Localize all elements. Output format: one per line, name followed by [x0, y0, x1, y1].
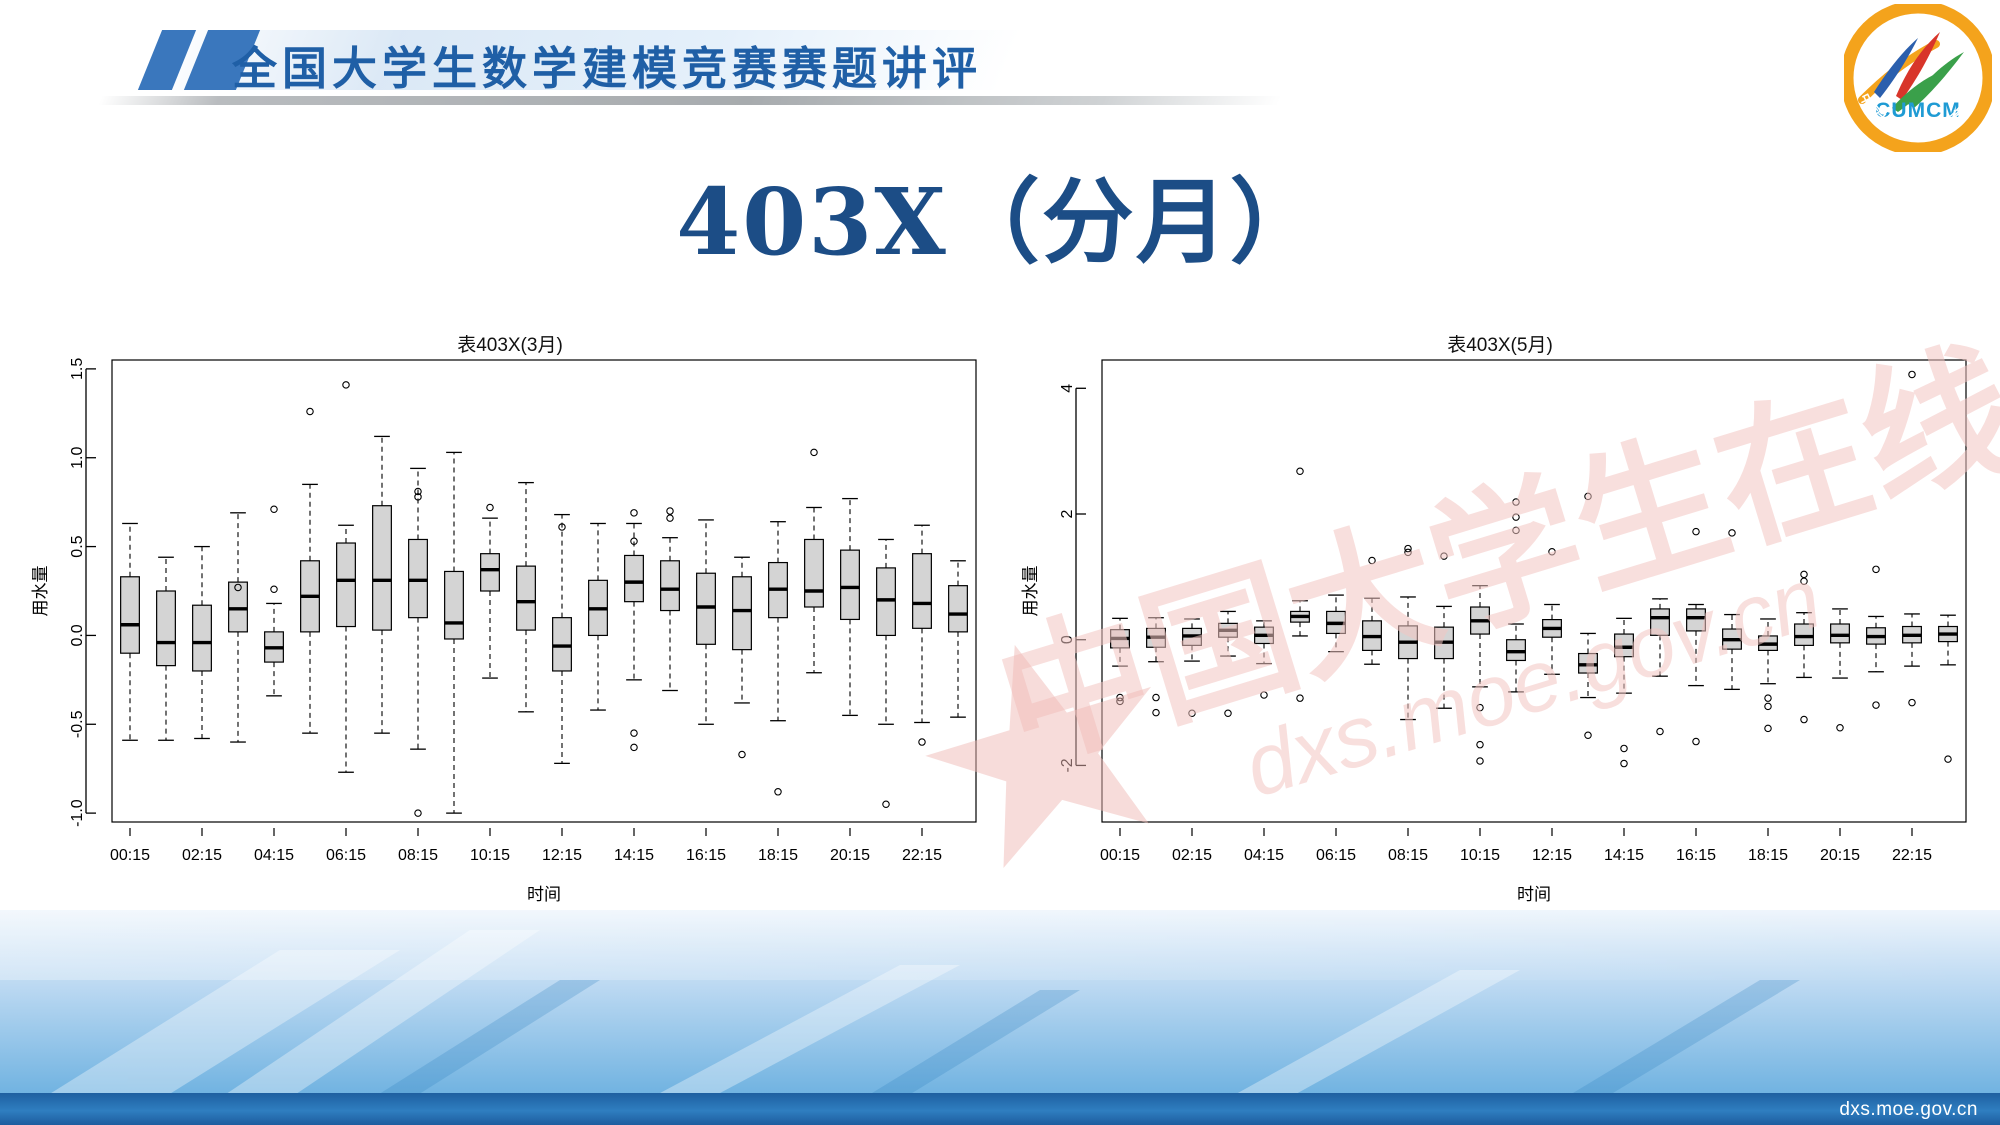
boxplot-box	[1615, 618, 1634, 766]
boxplot-box	[121, 523, 140, 740]
y-tick-label: 0.0	[69, 624, 86, 646]
plot-may: -2024用水量00:1502:1504:1506:1508:1510:1512…	[1010, 352, 1990, 940]
outlier-point	[1441, 553, 1447, 559]
outlier-point	[1585, 732, 1591, 738]
outlier-point	[1945, 756, 1951, 762]
outlier-point	[1909, 371, 1915, 377]
x-tick-label: 02:15	[182, 847, 222, 864]
x-tick-label: 02:15	[1172, 847, 1212, 864]
y-tick-label: 1.0	[69, 447, 86, 469]
outlier-point	[775, 789, 781, 795]
footer-bar	[0, 1093, 2000, 1125]
x-axis-title: 时间	[1517, 885, 1551, 904]
boxplot-box	[697, 520, 716, 724]
boxplot-box	[625, 510, 644, 751]
outlier-point	[811, 449, 817, 455]
cumcm-logo-icon: CUMCM 中国大学生数学建模竞赛	[1844, 4, 1992, 152]
charts-container: 表403X(3月) -1.0-0.50.00.51.01.5用水量00:1502…	[0, 300, 2000, 940]
outlier-point	[1513, 527, 1519, 533]
boxplot-box	[1255, 621, 1274, 698]
outlier-point	[1549, 549, 1555, 555]
plot-march: -1.0-0.50.00.51.01.5用水量00:1502:1504:1506…	[20, 352, 1000, 940]
outlier-point	[1765, 695, 1771, 701]
x-tick-label: 12:15	[542, 847, 582, 864]
y-tick-label: -1.0	[69, 799, 86, 827]
y-axis-title: 用水量	[31, 566, 50, 617]
slide-bottom-decor: dxs.moe.gov.cn	[0, 910, 2000, 1125]
y-axis-title: 用水量	[1021, 566, 1040, 617]
outlier-point	[1225, 710, 1231, 716]
outlier-point	[1765, 703, 1771, 709]
outlier-point	[739, 751, 745, 757]
outlier-point	[883, 801, 889, 807]
outlier-point	[271, 586, 277, 592]
boxplot-box	[1579, 493, 1598, 738]
outlier-point	[631, 744, 637, 750]
boxplot-box	[337, 382, 356, 773]
outlier-point	[1909, 699, 1915, 705]
outlier-point	[1405, 545, 1411, 551]
box-rect	[481, 554, 500, 591]
boxplot-box	[1831, 609, 1850, 731]
boxplot-box	[733, 557, 752, 757]
box-rect	[625, 555, 644, 601]
box-rect	[841, 550, 860, 619]
y-tick-label: 0	[1059, 635, 1076, 644]
y-tick-label: -0.5	[69, 710, 86, 738]
boxplot-box	[1183, 619, 1202, 716]
y-tick-label: 4	[1059, 384, 1076, 393]
header-underline	[98, 96, 1282, 105]
boxplot-box	[373, 436, 392, 733]
box-rect	[733, 577, 752, 650]
outlier-point	[1621, 745, 1627, 751]
x-tick-label: 00:15	[110, 847, 150, 864]
plot-frame	[1102, 360, 1966, 822]
outlier-point	[271, 506, 277, 512]
outlier-point	[1873, 566, 1879, 572]
boxplot-box	[661, 508, 680, 691]
box-rect	[157, 591, 176, 666]
boxplot-box	[1219, 611, 1238, 716]
outlier-point	[1153, 709, 1159, 715]
x-tick-label: 14:15	[614, 847, 654, 864]
outlier-point	[631, 510, 637, 516]
boxplot-box	[229, 513, 248, 742]
slide-header: 全国大学生数学建模竞赛赛题讲评	[0, 0, 2000, 120]
box-rect	[193, 605, 212, 671]
slide-title: 403X（分月）	[0, 148, 2000, 281]
box-rect	[1687, 609, 1706, 631]
outlier-point	[1729, 530, 1735, 536]
boxplot-box	[805, 449, 824, 673]
x-tick-label: 20:15	[1820, 847, 1860, 864]
x-tick-label: 16:15	[1676, 847, 1716, 864]
x-tick-label: 08:15	[1388, 847, 1428, 864]
box-rect	[229, 582, 248, 632]
boxplot-box	[409, 468, 428, 816]
outlier-point	[1837, 725, 1843, 731]
x-tick-label: 16:15	[686, 847, 726, 864]
outlier-point	[1693, 528, 1699, 534]
boxplot-svg-may: -2024用水量00:1502:1504:1506:1508:1510:1512…	[1010, 352, 1990, 940]
outlier-point	[1621, 760, 1627, 766]
outlier-point	[1477, 758, 1483, 764]
x-tick-label: 18:15	[758, 847, 798, 864]
x-tick-label: 00:15	[1100, 847, 1140, 864]
outlier-point	[1477, 741, 1483, 747]
outlier-point	[1693, 738, 1699, 744]
boxplot-box	[1111, 618, 1130, 704]
box-rect	[877, 568, 896, 636]
boxplot-box	[949, 561, 968, 717]
boxplot-box	[769, 522, 788, 795]
outlier-point	[1297, 695, 1303, 701]
outlier-point	[1513, 499, 1519, 505]
outlier-point	[667, 515, 673, 521]
box-rect	[409, 539, 428, 617]
outlier-point	[1117, 698, 1123, 704]
x-tick-label: 14:15	[1604, 847, 1644, 864]
x-tick-label: 12:15	[1532, 847, 1572, 864]
y-tick-label: 1.5	[69, 358, 86, 380]
boxplot-box	[1399, 545, 1418, 719]
outlier-point	[1585, 493, 1591, 499]
boxplot-box	[1291, 468, 1310, 701]
outlier-point	[307, 408, 313, 414]
boxplot-box	[1939, 615, 1958, 762]
outlier-point	[1369, 557, 1375, 563]
x-tick-label: 22:15	[902, 847, 942, 864]
outlier-point	[343, 382, 349, 388]
box-rect	[1831, 624, 1850, 643]
boxplot-box	[1543, 549, 1562, 675]
footer-url: dxs.moe.gov.cn	[1839, 1099, 1978, 1121]
boxplot-box	[301, 408, 320, 733]
boxplot-box	[913, 525, 932, 745]
outlier-point	[1801, 716, 1807, 722]
outlier-point	[1513, 514, 1519, 520]
outlier-point	[631, 730, 637, 736]
x-tick-label: 10:15	[1460, 847, 1500, 864]
outlier-point	[1765, 725, 1771, 731]
x-tick-label: 06:15	[326, 847, 366, 864]
boxplot-box	[1903, 371, 1922, 706]
x-tick-label: 04:15	[254, 847, 294, 864]
outlier-point	[1297, 468, 1303, 474]
boxplot-box	[265, 506, 284, 696]
boxplot-box	[1651, 599, 1670, 735]
outlier-point	[667, 508, 673, 514]
boxplot-box	[553, 515, 572, 764]
y-tick-label: 2	[1059, 509, 1076, 518]
box-rect	[337, 543, 356, 627]
boxplot-box	[517, 483, 536, 712]
box-rect	[661, 561, 680, 611]
boxplot-box	[1723, 530, 1742, 690]
x-tick-label: 04:15	[1244, 847, 1284, 864]
boxplot-box	[1147, 618, 1166, 716]
cumcm-logo: CUMCM 中国大学生数学建模竞赛	[1844, 4, 1992, 152]
boxplot-box	[1759, 619, 1778, 732]
outlier-point	[1153, 694, 1159, 700]
boxplot-box	[1867, 566, 1886, 708]
chart-card-march: 表403X(3月) -1.0-0.50.00.51.01.5用水量00:1502…	[20, 300, 1000, 940]
outlier-point	[1477, 704, 1483, 710]
box-rect	[373, 506, 392, 630]
boxplot-box	[193, 547, 212, 739]
boxplot-box	[877, 539, 896, 807]
box-rect	[805, 539, 824, 607]
box-rect	[949, 586, 968, 632]
box-rect	[517, 566, 536, 630]
outlier-point	[1873, 702, 1879, 708]
x-tick-label: 10:15	[470, 847, 510, 864]
box-rect	[913, 554, 932, 629]
outlier-point	[487, 504, 493, 510]
outlier-point	[1801, 578, 1807, 584]
header-title: 全国大学生数学建模竞赛赛题讲评	[232, 32, 982, 97]
outlier-point	[919, 739, 925, 745]
x-tick-label: 06:15	[1316, 847, 1356, 864]
box-rect	[553, 618, 572, 671]
box-rect	[1795, 624, 1814, 645]
boxplot-box	[1471, 586, 1490, 765]
outlier-point	[415, 810, 421, 816]
y-tick-label: 0.5	[69, 535, 86, 557]
box-rect	[445, 571, 464, 639]
boxplot-svg-march: -1.0-0.50.00.51.01.5用水量00:1502:1504:1506…	[20, 352, 1000, 940]
boxplot-box	[445, 452, 464, 813]
x-tick-label: 22:15	[1892, 847, 1932, 864]
boxplot-box	[157, 557, 176, 740]
x-axis-title: 时间	[527, 885, 561, 904]
x-tick-label: 18:15	[1748, 847, 1788, 864]
boxplot-box	[589, 523, 608, 710]
outlier-point	[1801, 571, 1807, 577]
y-tick-label: -2	[1059, 758, 1076, 772]
boxplot-box	[1795, 571, 1814, 723]
boxplot-box	[1363, 557, 1382, 664]
box-rect	[1651, 609, 1670, 635]
x-tick-label: 20:15	[830, 847, 870, 864]
box-rect	[121, 577, 140, 653]
boxplot-box	[841, 499, 860, 716]
boxplot-box	[1687, 528, 1706, 744]
outlier-point	[1261, 692, 1267, 698]
boxplot-box	[481, 504, 500, 678]
outlier-point	[1657, 728, 1663, 734]
x-tick-label: 08:15	[398, 847, 438, 864]
box-rect	[1615, 634, 1634, 657]
box-rect	[697, 573, 716, 644]
chart-card-may: 表403X(5月) -2024用水量00:1502:1504:1506:1508…	[1010, 300, 1990, 940]
boxplot-box	[1327, 595, 1346, 652]
outlier-point	[1189, 710, 1195, 716]
boxplot-box	[1435, 553, 1454, 708]
boxplot-box	[1507, 499, 1526, 692]
